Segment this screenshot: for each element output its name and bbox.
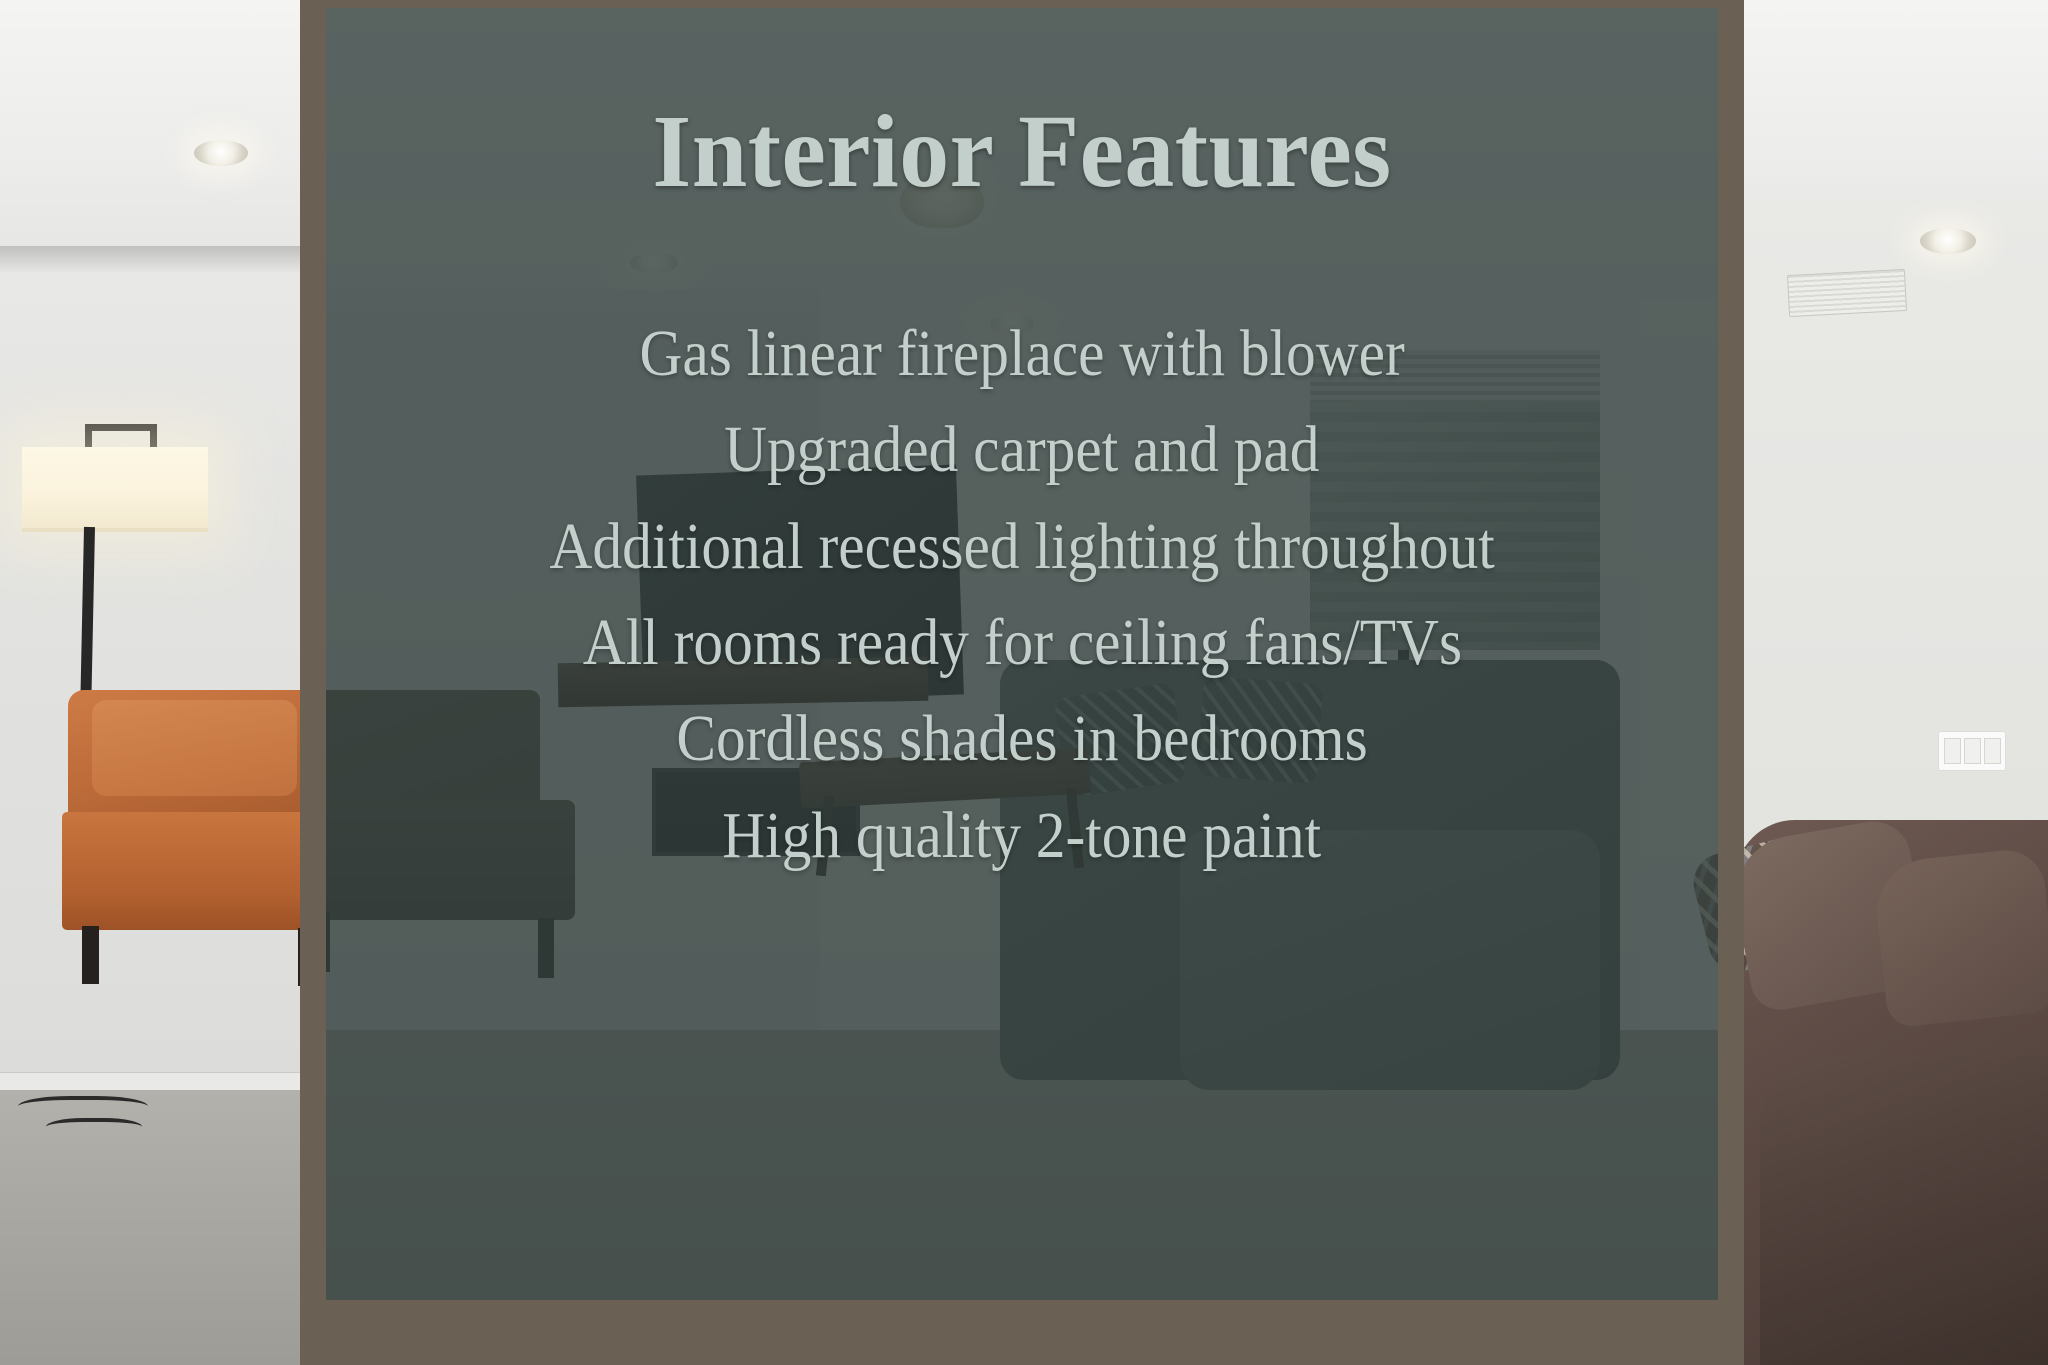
list-item: Gas linear fireplace with blower [639,306,1404,402]
light-switch[interactable] [1984,738,2001,764]
recessed-ceiling-light-icon [194,140,248,166]
list-item: All rooms ready for ceiling fans/TVs [582,595,1461,691]
frame-border-bottom [300,1300,1744,1365]
leather-chair-seat [62,812,330,930]
frame-border-right [1718,0,1744,1365]
list-item: Upgraded carpet and pad [724,402,1319,498]
light-switch-plate[interactable] [1938,731,2006,771]
leather-chair-leg [82,926,99,984]
list-item: Cordless shades in bedrooms [676,691,1367,787]
velvet-sofa-arm [1760,1055,2048,1365]
panel-content: Interior Features Gas linear fireplace w… [326,8,1718,1300]
slide-canvas: Interior Features Gas linear fireplace w… [0,0,2048,1365]
page-title: Interior Features [652,100,1391,204]
velvet-sofa-pillow [1872,847,2048,1029]
frame-border-left [300,0,326,1365]
leather-chair-cushion [92,700,297,796]
light-switch[interactable] [1964,738,1981,764]
recessed-ceiling-light-icon [1920,228,1976,254]
list-item: High quality 2-tone paint [723,788,1322,884]
list-item: Additional recessed lighting throughout [549,499,1494,595]
floor-lamp-left-shade [22,447,208,529]
ceiling-vent-icon [1787,269,1907,317]
light-switch[interactable] [1944,738,1961,764]
floor-cable [46,1118,142,1140]
feature-list: Gas linear fireplace with blower Upgrade… [497,306,1547,884]
frame-border-top [300,0,1744,8]
